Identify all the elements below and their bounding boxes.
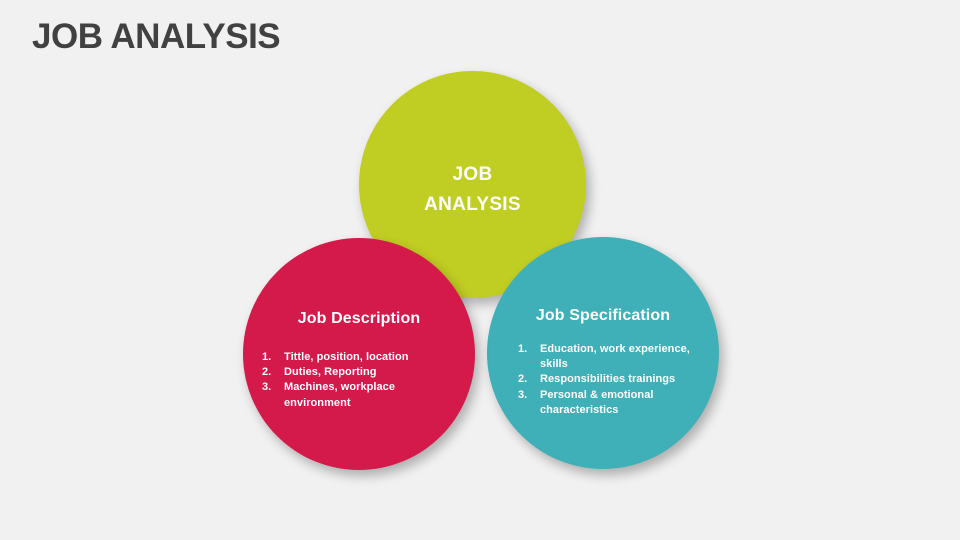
list-item: 2.Responsibilities trainings [518, 372, 698, 387]
list-item-text: Machines, workplace environment [284, 381, 395, 408]
job-analysis-diagram: JOB ANALYSIS Job Specification 1.Educati… [0, 0, 960, 540]
circle-job-description-list: 1.Tittle, position, location2.Duties, Re… [262, 350, 457, 411]
list-item-text: Duties, Reporting [284, 366, 377, 378]
list-item-number: 3. [518, 388, 534, 403]
circle-job-analysis-label: JOB ANALYSIS [359, 160, 586, 220]
circle-job-analysis-label-line2: ANALYSIS [359, 190, 586, 220]
list-item-number: 1. [262, 350, 278, 365]
list-item: 2.Duties, Reporting [262, 365, 457, 380]
slide-canvas: JOB ANALYSIS JOB ANALYSIS Job Specificat… [0, 0, 960, 540]
circle-job-description-heading: Job Description [243, 310, 475, 328]
list-item-number: 2. [518, 372, 534, 387]
list-item-number: 2. [262, 365, 278, 380]
list-item-text: Personal & emotional characteristics [540, 389, 653, 416]
circle-job-description[interactable]: Job Description 1.Tittle, position, loca… [243, 238, 475, 470]
list-item-number: 3. [262, 380, 278, 395]
list-item: 1.Education, work experience, skills [518, 342, 698, 372]
circle-job-specification-list: 1.Education, work experience, skills2.Re… [518, 342, 698, 418]
circle-job-specification-heading: Job Specification [487, 307, 719, 325]
list-item: 3.Machines, workplace environment [262, 380, 457, 410]
list-item: 3.Personal & emotional characteristics [518, 388, 698, 418]
list-item-number: 1. [518, 342, 534, 357]
list-item-text: Responsibilities trainings [540, 373, 675, 385]
list-item-text: Tittle, position, location [284, 351, 409, 363]
circle-job-specification[interactable]: Job Specification 1.Education, work expe… [487, 237, 719, 469]
list-item-text: Education, work experience, skills [540, 343, 690, 370]
circle-job-analysis-label-line1: JOB [359, 160, 586, 190]
list-item: 1.Tittle, position, location [262, 350, 457, 365]
